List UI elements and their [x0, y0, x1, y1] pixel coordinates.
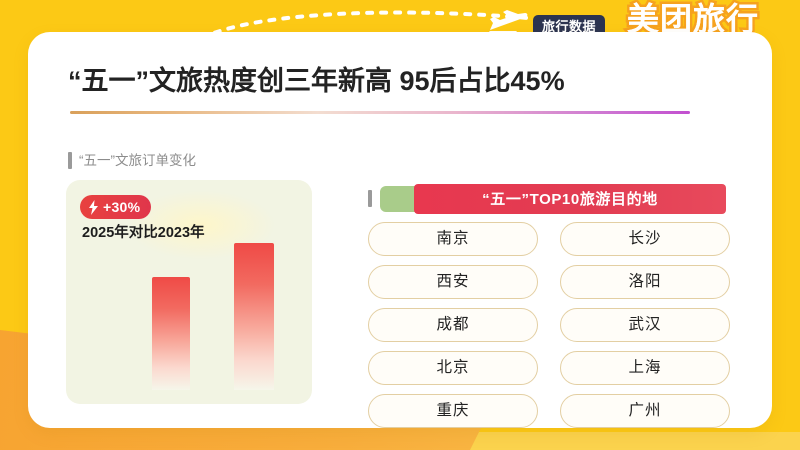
city-name: 长沙	[628, 231, 661, 247]
city-name: 武汉	[628, 317, 661, 333]
list-item[interactable]: 南京	[368, 222, 538, 256]
city-name: 上海	[628, 360, 661, 376]
city-name: 洛阳	[628, 274, 661, 290]
list-item[interactable]: 广州	[560, 394, 730, 428]
city-name: 西安	[436, 274, 469, 290]
city-name: 成都	[436, 317, 469, 333]
list-item[interactable]: 长沙	[560, 222, 730, 256]
bar-2023	[152, 277, 190, 390]
destination-column-right: 长沙 洛阳 武汉 上海 广州	[560, 222, 730, 428]
destination-list: 南京 西安 成都 北京 重庆 长沙 洛阳 武汉 上海 广州	[368, 222, 730, 428]
page-title: “五一”文旅热度创三年新高 95后占比45%	[68, 68, 728, 95]
lightning-bolt-icon	[88, 200, 99, 215]
growth-badge-value: +30%	[103, 200, 140, 214]
order-change-chart: +30% 2025年对比2023年	[66, 180, 312, 404]
top10-banner-text: “五一”TOP10旅游目的地	[482, 192, 658, 207]
city-name: 北京	[436, 360, 469, 376]
growth-badge: +30%	[80, 195, 151, 219]
list-item[interactable]: 北京	[368, 351, 538, 385]
section-tick-icon	[68, 152, 72, 169]
left-section-label-text: “五一”文旅订单变化	[79, 154, 196, 168]
city-name: 广州	[628, 403, 661, 419]
list-item[interactable]: 重庆	[368, 394, 538, 428]
infographic-root: 旅行数据 美团旅行 美团旅行 “五一”文旅热度创三年新高 95后占比45% “五…	[0, 0, 800, 450]
main-card: “五一”文旅热度创三年新高 95后占比45% “五一”文旅订单变化 +30% 2…	[28, 32, 772, 428]
city-name: 南京	[436, 231, 469, 247]
list-item[interactable]: 成都	[368, 308, 538, 342]
destination-column-left: 南京 西安 成都 北京 重庆	[368, 222, 538, 428]
list-item[interactable]: 洛阳	[560, 265, 730, 299]
list-item[interactable]: 武汉	[560, 308, 730, 342]
left-section-label: “五一”文旅订单变化	[68, 152, 196, 169]
section-tick-icon	[368, 190, 372, 207]
list-item[interactable]: 上海	[560, 351, 730, 385]
top10-header: “五一”TOP10旅游目的地	[368, 184, 728, 214]
comparison-label: 2025年对比2023年	[82, 226, 205, 241]
bar-2025	[234, 243, 274, 390]
top10-banner: “五一”TOP10旅游目的地	[414, 184, 726, 214]
brand-logo: 美团旅行	[627, 3, 759, 35]
list-item[interactable]: 西安	[368, 265, 538, 299]
title-underline-gradient	[70, 111, 690, 114]
city-name: 重庆	[436, 403, 469, 419]
